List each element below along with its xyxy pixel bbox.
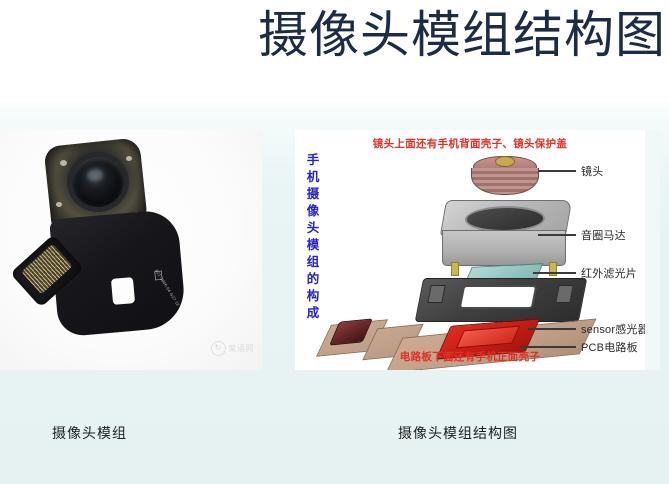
- vcm-pin: [549, 262, 557, 276]
- watermark-text: 紫语网: [229, 343, 255, 354]
- caption-right: 摄像头模组结构图: [398, 423, 518, 443]
- watermark: ↻ 紫语网: [211, 341, 255, 356]
- housing-speck: [126, 156, 132, 161]
- diagram-vertical-title: 手机摄像头模组的构成: [303, 152, 323, 322]
- vcm-pin: [451, 262, 459, 276]
- leader-line-sensor: [528, 328, 576, 330]
- slide-canvas: 摄像头模组结构图  821-1806-04 G27 12 ↻ 紫语网 镜头上面…: [0, 0, 669, 484]
- page-title: 摄像头模组结构图: [258, 2, 666, 68]
- sensor-holder-window: [459, 285, 538, 309]
- leader-line-lens: [538, 170, 576, 172]
- housing-speck: [56, 202, 62, 207]
- leader-line-vcm: [538, 234, 576, 236]
- diagram-label-sensor: sensor感光器件: [581, 321, 645, 337]
- lens-barrel-threads: [471, 168, 539, 195]
- diagram-bottom-note: 电路板下面还有手机正面壳子: [295, 349, 645, 364]
- diagram-panel-edge: [645, 130, 660, 370]
- camera-module-photo:  821-1806-04 G27 12 ↻ 紫语网: [0, 130, 262, 370]
- diagram-label-lens: 镜头: [581, 163, 603, 179]
- diagram-top-note: 镜头上面还有手机背面壳子、镜头保护盖: [295, 136, 645, 151]
- camera-module-exploded-diagram: 镜头上面还有手机背面壳子、镜头保护盖 手机摄像头模组的构成: [295, 130, 645, 370]
- watermark-icon: ↻: [211, 341, 226, 356]
- housing-speck: [60, 160, 67, 166]
- diagram-label-ir-filter: 红外滤光片: [581, 265, 637, 281]
- caption-left: 摄像头模组: [52, 423, 127, 443]
- leader-line-ir-filter: [533, 272, 576, 274]
- diagram-label-vcm: 音圈马达: [581, 227, 626, 243]
- photo-background:  821-1806-04 G27 12 ↻ 紫语网: [0, 130, 262, 370]
- lens-aperture: [495, 156, 515, 167]
- flex-cable-notch: [111, 277, 135, 305]
- leader-line-pcb: [520, 346, 576, 348]
